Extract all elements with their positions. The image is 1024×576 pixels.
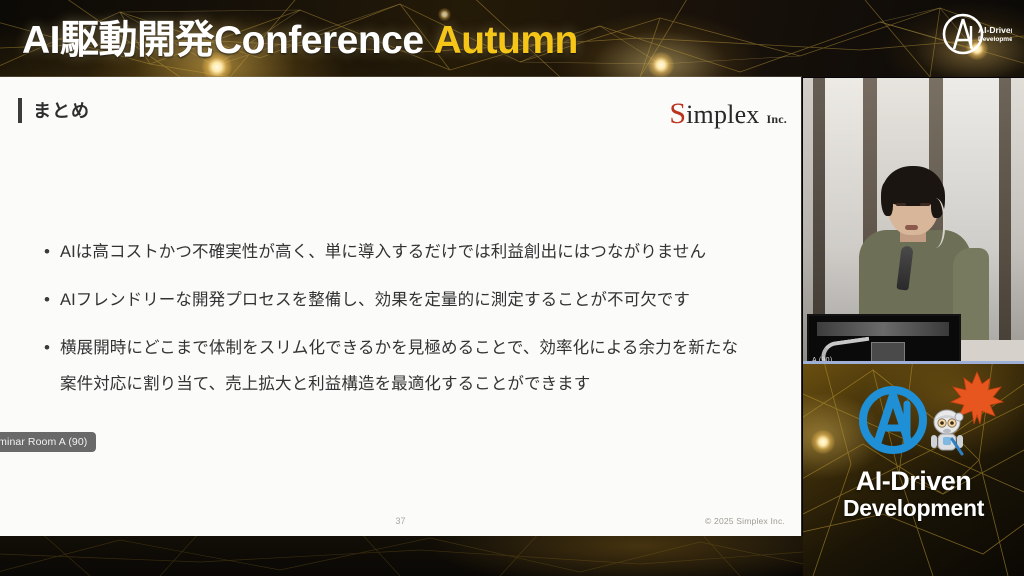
simplex-logo-suffix: Inc. bbox=[767, 112, 787, 127]
slide-page-number: 37 bbox=[0, 516, 801, 526]
bullet-line: AIは高コストかつ不確実性が高く、単に導入するだけでは利益創出にはつながりません bbox=[60, 243, 706, 261]
bullet-marker: • bbox=[44, 333, 60, 363]
simplex-logo-capital: S bbox=[669, 99, 686, 129]
bullet-text: AIは高コストかつ不確実性が高く、単に導入するだけでは利益創出にはつながりません bbox=[60, 237, 706, 267]
screen-capture: AI駆動開発ConferenceAutumn AI-Driven Develop… bbox=[0, 0, 1024, 576]
speaker-mouth bbox=[905, 225, 918, 230]
laptop: A (90) bbox=[807, 314, 961, 361]
speaker-hair-side bbox=[881, 182, 893, 216]
bullet-marker: • bbox=[44, 237, 60, 267]
svg-text:Development: Development bbox=[978, 36, 1012, 43]
bullet-line: 案件対応に割り当て、売上拡大と利益構造を最適化することができます bbox=[60, 369, 738, 399]
podium bbox=[961, 340, 1024, 361]
equipment-box bbox=[871, 342, 905, 361]
bullet-text: AIフレンドリーな開発プロセスを整備し、効果を定量的に測定することが不可欠です bbox=[60, 285, 690, 315]
conference-title: AI駆動開発ConferenceAutumn bbox=[22, 9, 578, 65]
footer-network-pattern bbox=[0, 536, 803, 576]
simplex-logo-name: implex bbox=[686, 102, 759, 128]
robot-mascot-icon bbox=[929, 406, 965, 456]
slide-title: まとめ bbox=[33, 97, 90, 123]
brand-text-line2: Development bbox=[803, 495, 1024, 522]
svg-text:AI-Driven: AI-Driven bbox=[978, 25, 1012, 35]
ai-driven-brand-mark-icon bbox=[855, 382, 931, 458]
bullet-marker: • bbox=[44, 285, 60, 315]
footer-background-strip bbox=[0, 536, 803, 576]
simplex-logo: SimplexInc. bbox=[669, 99, 787, 129]
presentation-slide: まとめ SimplexInc. • AIは高コストかつ不確実性が高く、単に導入す… bbox=[0, 77, 801, 536]
slide-bullet-list: • AIは高コストかつ不確実性が高く、単に導入するだけでは利益創出にはつながりま… bbox=[44, 237, 771, 417]
slide-copyright: © 2025 Simplex Inc. bbox=[705, 516, 785, 526]
headset-icon bbox=[921, 198, 945, 248]
conference-title-accent: Autumn bbox=[434, 19, 578, 62]
brand-text-line1: AI-Driven bbox=[803, 466, 1024, 497]
brand-logo-panel: AI-Driven Development bbox=[803, 364, 1024, 576]
laptop-screen bbox=[817, 322, 949, 336]
speaker-video-panel[interactable]: A (90) bbox=[803, 78, 1024, 361]
list-item: • AIフレンドリーな開発プロセスを整備し、効果を定量的に測定することが不可欠で… bbox=[44, 285, 771, 315]
slide-title-group: まとめ bbox=[18, 97, 90, 123]
room-label-badge: A/Seminar Room A (90) bbox=[0, 432, 96, 452]
conference-title-main: AI駆動開発Conference bbox=[22, 19, 424, 62]
bullet-line: 横展開時にどこまで体制をスリム化できるかを見極めることで、効率化による余力を新た… bbox=[60, 339, 738, 357]
conference-header-banner: AI駆動開発ConferenceAutumn AI-Driven Develop… bbox=[0, 0, 1024, 77]
list-item: • 横展開時にどこまで体制をスリム化できるかを見極めることで、効率化による余力を… bbox=[44, 333, 771, 399]
list-item: • AIは高コストかつ不確実性が高く、単に導入するだけでは利益創出にはつながりま… bbox=[44, 237, 771, 267]
bullet-line: AIフレンドリーな開発プロセスを整備し、効果を定量的に測定することが不可欠です bbox=[60, 291, 690, 309]
slide-title-accent-bar bbox=[18, 98, 22, 123]
bullet-text: 横展開時にどこまで体制をスリム化できるかを見極めることで、効率化による余力を新た… bbox=[60, 333, 738, 399]
speaker-eye bbox=[896, 203, 906, 206]
ai-driven-development-logo-icon: AI-Driven Development bbox=[938, 6, 1012, 66]
